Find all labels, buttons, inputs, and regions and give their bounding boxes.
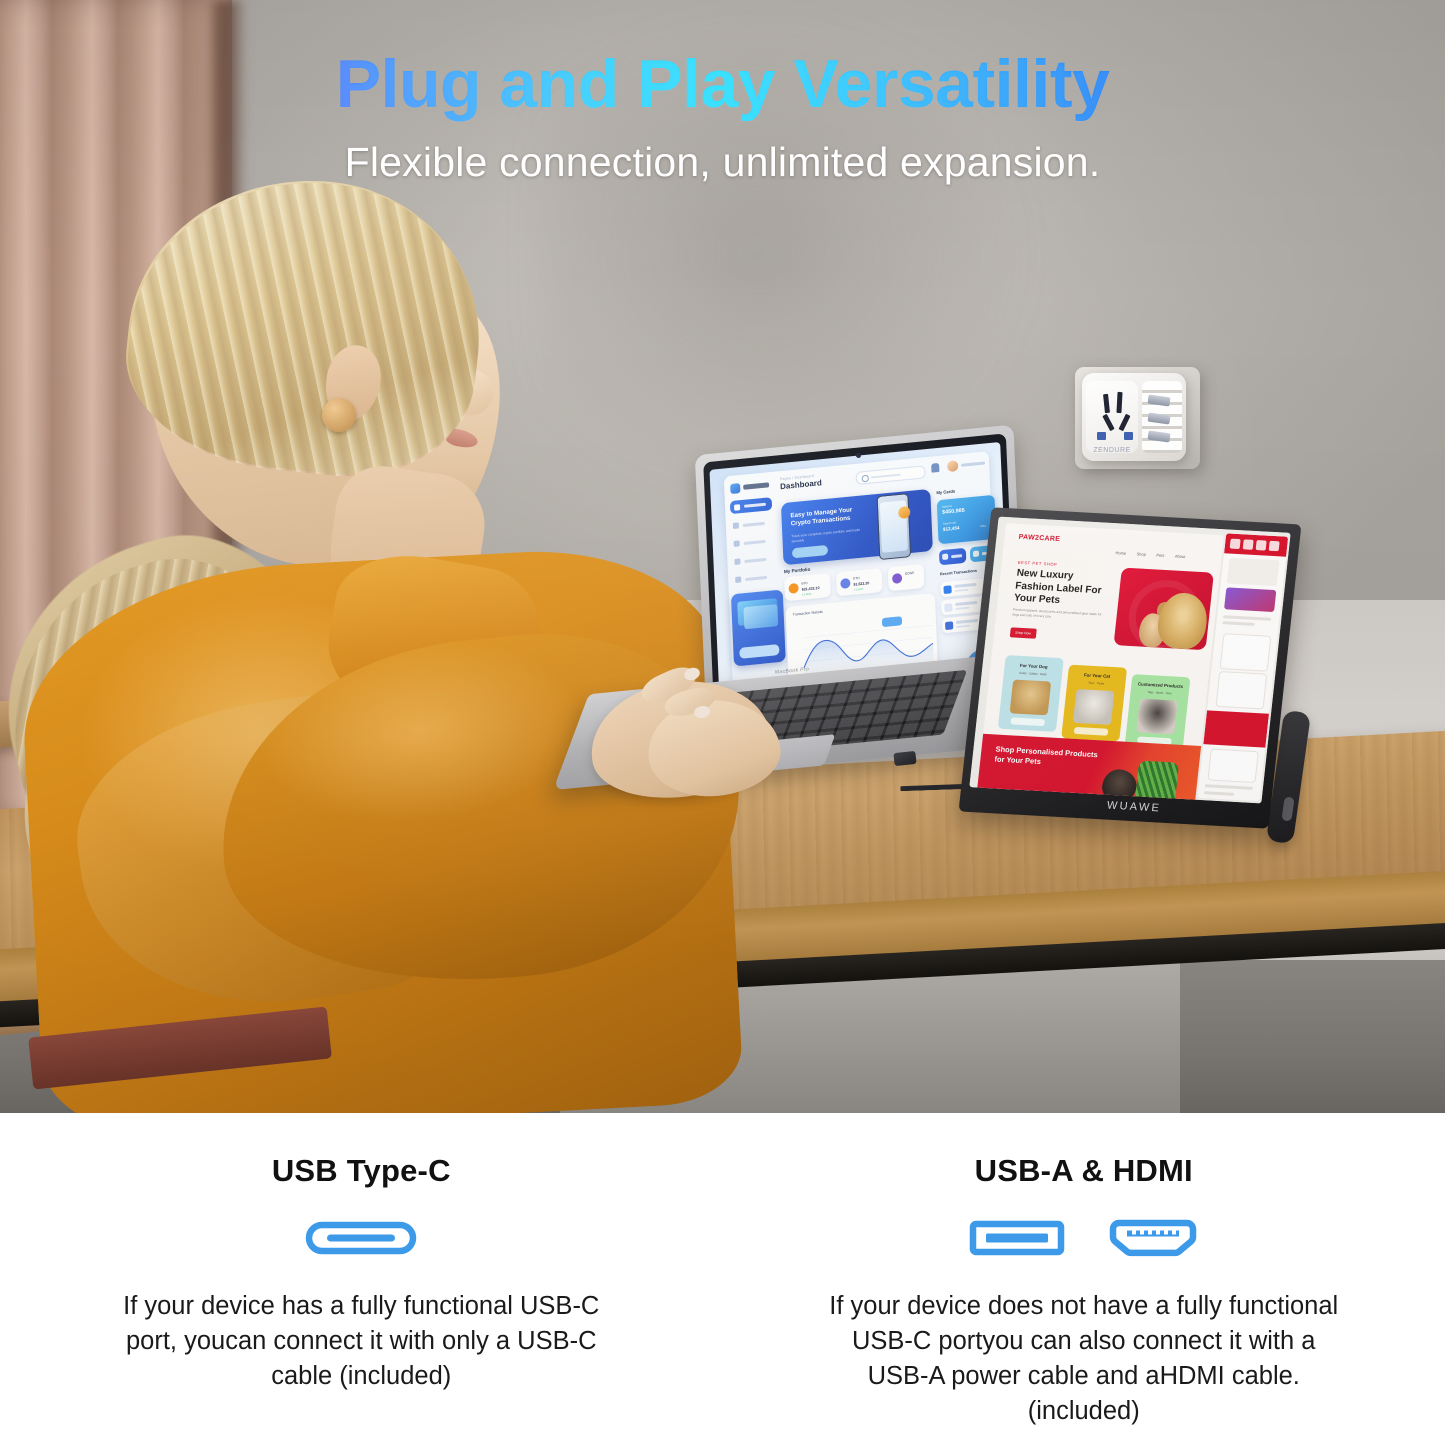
exchange-icon [734,558,740,565]
hero-paragraph: Premium apparel, accessories and persona… [1012,607,1109,622]
coin-name: ETH [853,576,860,581]
sidebar-label [743,522,765,527]
panel-block [1227,558,1280,587]
site-nav[interactable]: Home Shop Pets About [1116,541,1221,555]
card-subtitle: Coats · Collars · Beds [1004,670,1062,677]
banner-cta-button[interactable] [792,545,828,558]
card-button[interactable] [1010,717,1045,726]
hero-heading: New Luxury Fashion Label For Your Pets [1013,568,1113,611]
text-line [1204,791,1234,796]
footer-heading: Shop Personalised Products for Your Pets [994,745,1106,770]
banner-heading: Easy to Manage Your Crypto Transactions [790,505,872,529]
coin-icon [840,578,850,589]
wallet-icon [945,621,953,630]
coinbase-icon [943,585,951,594]
card-button[interactable] [1074,727,1109,736]
adapter-socket-hole [1124,432,1133,440]
tab-thumb[interactable] [1256,540,1267,551]
category-card-cat[interactable]: For Your Cat Toys · Treats [1061,665,1127,742]
site-main-column: PAW2CARE Home Shop Pets About BEST PET S… [977,523,1224,800]
coin-icon [892,573,902,584]
column-title-usb-c: USB Type-C [272,1153,451,1189]
banner-subtext: Track your complete crypto portfolio and… [791,527,865,543]
category-card-dog[interactable]: For Your Dog Coats · Collars · Beds [998,655,1064,732]
monitor-screen-content: PAW2CARE Home Shop Pets About BEST PET S… [969,517,1290,804]
feature-column-usb-c: USB Type-C If your device has a fully fu… [0,1113,723,1445]
coin-change: +2.45% [802,592,812,597]
sidebar-label [744,503,766,508]
send-button[interactable] [939,548,967,566]
hero-image [1114,568,1214,651]
coin-change: +1.12% [854,587,864,592]
tab-thumb[interactable] [1243,539,1254,550]
send-label [951,554,962,558]
product-card[interactable] [1220,633,1272,671]
feature-panel: USB Type-C If your device has a fully fu… [0,1113,1445,1445]
lifestyle-photo: ZENDURE [0,0,1445,1113]
dog-thumbnail [1010,679,1052,715]
text-line [1222,621,1254,626]
site-logo: PAW2CARE [1018,534,1060,543]
card-subtitle: Tags · Bowls · Tees [1130,689,1188,696]
send-icon [942,553,948,560]
bitcoin-coin-icon [898,506,910,519]
column-description-usb-c: If your device has a fully functional US… [101,1289,621,1394]
sidebar-promo-card[interactable] [731,589,786,666]
product-card[interactable] [1215,671,1267,709]
card-subtitle: Toys · Treats [1067,680,1125,687]
page-subtitle: Flexible connection, unlimited expansion… [0,136,1445,188]
coin-name: DOGE [905,571,915,576]
sidebar-label [744,540,766,545]
notification-bell-icon[interactable] [931,463,939,473]
card-title: Customized Products [1131,681,1190,689]
wallet-icon [733,522,739,529]
usb-a-port-icon [969,1215,1065,1261]
promo-swatch [1224,587,1276,612]
hero-cta-button[interactable]: Shop Now [1010,627,1037,638]
coin-card[interactable]: ETH $1,523.20 +1.12% [836,568,883,596]
tab-thumb[interactable] [1269,541,1280,552]
coin-name: BTC [801,581,808,586]
card-title: For Your Dog [1005,662,1064,670]
usb-c-plug [893,751,916,766]
adapter-socket-hole [1097,432,1106,440]
text-line [1223,615,1271,621]
feature-column-usb-a-hdmi: USB-A & HDMI If your device does not hav… [723,1113,1445,1445]
text-line [1205,784,1253,790]
chart-icon [734,540,740,547]
portable-monitor: PAW2CARE Home Shop Pets About BEST PET S… [975,515,1355,865]
coin-card[interactable]: BTC $21,432.10 +2.45% [784,573,831,601]
column-description-usb-a-hdmi: If your device does not have a fully fun… [824,1289,1344,1429]
paypal-icon [944,603,952,612]
nav-item-shop[interactable]: Shop [1136,551,1146,556]
category-card-custom[interactable]: Customized Products Tags · Bowls · Tees [1124,674,1190,751]
nav-item-about[interactable]: About [1175,554,1186,560]
pet-shop-site: PAW2CARE Home Shop Pets About BEST PET S… [969,517,1290,804]
phone-mockup [877,493,912,560]
sidebar-label [745,576,767,581]
card-title: For Your Cat [1068,672,1127,680]
cat-thumbnail [1073,689,1115,725]
promo-button[interactable] [739,644,779,659]
page-title: Plug and Play Versatility [0,46,1445,122]
product-feature-image: ZENDURE [0,0,1445,1445]
pets-thumbnail [1136,699,1178,735]
feature-columns: USB Type-C If your device has a fully fu… [0,1113,1445,1445]
search-placeholder [871,473,901,478]
product-card[interactable] [1207,749,1258,783]
search-icon [862,475,869,482]
category-card-list: For Your Dog Coats · Collars · Beds For … [998,647,1205,738]
promo-banner: Easy to Manage Your Crypto Transactions … [781,489,933,565]
adapter-brand-label: ZENDURE [1088,447,1136,454]
icon-row-usb-c [305,1215,417,1261]
hero-cta-label: Shop Now [1015,631,1031,636]
secondary-header-bar [1224,533,1288,556]
nav-item-pets[interactable]: Pets [1156,552,1165,557]
balance-value: $450,985 [942,508,965,516]
red-promo-block [1203,710,1269,747]
gear-icon [735,576,741,583]
transactions-title: Recent Transactions [940,569,977,577]
hdmi-port-icon [1107,1215,1199,1261]
coin-icon [788,583,798,594]
nav-item-home[interactable]: Home [1115,550,1126,556]
grid-icon [734,504,740,511]
usb-c-port-icon [305,1215,417,1261]
secondary-value: $12,454 [943,525,960,532]
coin-card[interactable]: DOGE [888,564,925,591]
my-cards-title: My Cards [936,488,955,495]
credit-card-graphic-2 [743,604,778,629]
earring [322,398,356,432]
column-title-usb-a-hdmi: USB-A & HDMI [975,1153,1193,1189]
icon-row-usb-a-hdmi [969,1215,1199,1261]
hero-kicker: BEST PET SHOP [1018,560,1058,567]
sidebar-label [744,558,766,563]
adapter-face [1086,381,1138,453]
tab-thumb[interactable] [1230,539,1241,550]
